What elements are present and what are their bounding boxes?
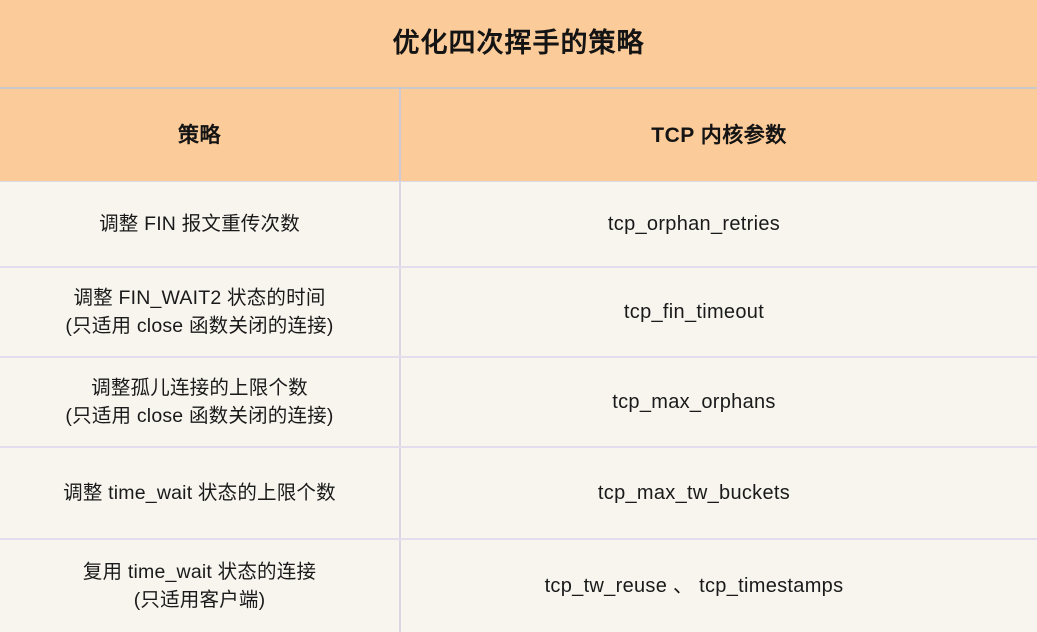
cell-parameter-text: tcp_fin_timeout — [624, 298, 764, 327]
cell-parameter: tcp_fin_timeout — [401, 268, 1037, 356]
table-row: 调整 FIN_WAIT2 状态的时间 (只适用 close 函数关闭的连接) t… — [0, 268, 1037, 358]
cell-policy: 调整孤儿连接的上限个数 (只适用 close 函数关闭的连接) — [0, 358, 401, 446]
column-header-parameter: TCP 内核参数 — [401, 89, 1037, 181]
table-header-row: 策略 TCP 内核参数 — [0, 89, 1037, 182]
cell-parameter: tcp_tw_reuse 、 tcp_timestamps — [401, 540, 1037, 632]
cell-policy-text: 调整 FIN_WAIT2 状态的时间 (只适用 close 函数关闭的连接) — [65, 284, 333, 341]
table-title: 优化四次挥手的策略 — [393, 30, 645, 57]
table-row: 调整 time_wait 状态的上限个数 tcp_max_tw_buckets — [0, 448, 1037, 540]
cell-policy: 调整 FIN 报文重传次数 — [0, 182, 401, 266]
tcp-teardown-tuning-table: 优化四次挥手的策略 策略 TCP 内核参数 调整 FIN 报文重传次数 tcp_… — [0, 0, 1037, 632]
cell-parameter: tcp_orphan_retries — [401, 182, 1037, 266]
cell-policy-text: 调整 FIN 报文重传次数 — [99, 210, 300, 238]
table-row: 复用 time_wait 状态的连接 (只适用客户端) tcp_tw_reuse… — [0, 540, 1037, 632]
cell-policy: 调整 time_wait 状态的上限个数 — [0, 448, 401, 538]
cell-policy-text: 调整孤儿连接的上限个数 (只适用 close 函数关闭的连接) — [65, 374, 333, 431]
cell-policy-text: 调整 time_wait 状态的上限个数 — [63, 479, 336, 507]
cell-parameter-text: tcp_max_tw_buckets — [598, 479, 790, 508]
column-header-policy: 策略 — [0, 89, 401, 181]
cell-parameter-text: tcp_max_orphans — [612, 388, 775, 417]
column-header-policy-label: 策略 — [178, 125, 221, 146]
cell-parameter: tcp_max_orphans — [401, 358, 1037, 446]
cell-parameter-text: tcp_orphan_retries — [608, 210, 780, 239]
cell-parameter: tcp_max_tw_buckets — [401, 448, 1037, 538]
table-row: 调整 FIN 报文重传次数 tcp_orphan_retries — [0, 182, 1037, 268]
table-row: 调整孤儿连接的上限个数 (只适用 close 函数关闭的连接) tcp_max_… — [0, 358, 1037, 448]
cell-policy: 复用 time_wait 状态的连接 (只适用客户端) — [0, 540, 401, 632]
column-header-parameter-label: TCP 内核参数 — [651, 125, 786, 146]
cell-policy-text: 复用 time_wait 状态的连接 (只适用客户端) — [83, 558, 316, 615]
table-title-bar: 优化四次挥手的策略 — [0, 0, 1037, 89]
cell-parameter-text: tcp_tw_reuse 、 tcp_timestamps — [545, 572, 844, 601]
table-body: 调整 FIN 报文重传次数 tcp_orphan_retries 调整 FIN_… — [0, 182, 1037, 632]
cell-policy: 调整 FIN_WAIT2 状态的时间 (只适用 close 函数关闭的连接) — [0, 268, 401, 356]
